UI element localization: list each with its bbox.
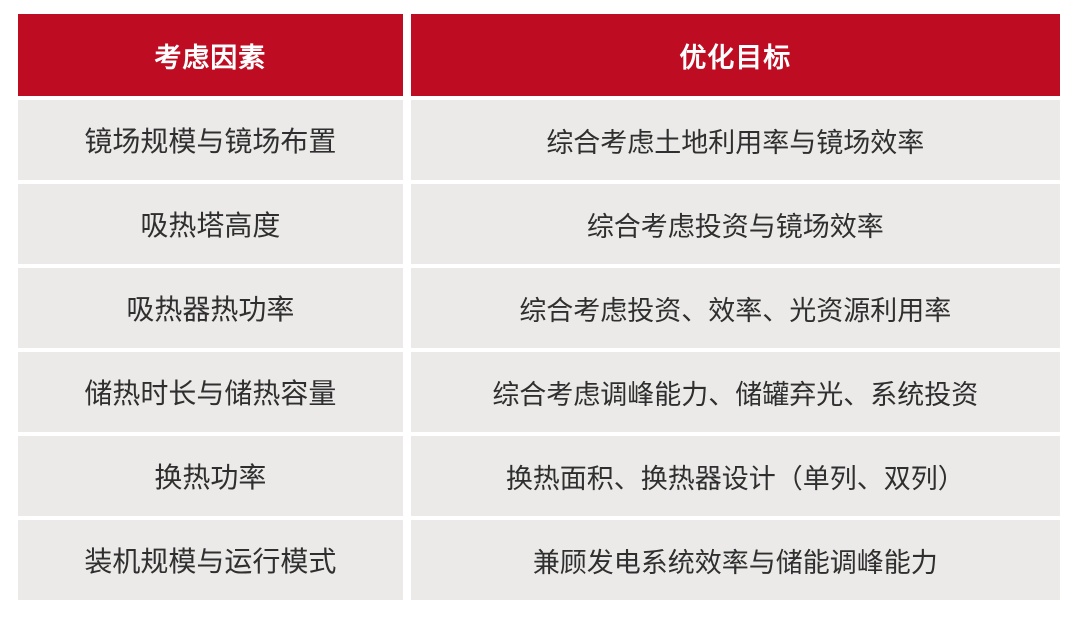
table-row: 吸热器热功率 综合考虑投资、效率、光资源利用率 (18, 268, 1060, 348)
cell-target: 综合考虑投资与镜场效率 (411, 184, 1060, 264)
cell-factor: 镜场规模与镜场布置 (18, 100, 403, 180)
cell-target: 换热面积、换热器设计（单列、双列） (411, 436, 1060, 516)
cell-target: 兼顾发电系统效率与储能调峰能力 (411, 520, 1060, 600)
cell-target: 综合考虑调峰能力、储罐弃光、系统投资 (411, 352, 1060, 432)
table-header-row: 考虑因素 优化目标 (18, 14, 1060, 96)
table-row: 吸热塔高度 综合考虑投资与镜场效率 (18, 184, 1060, 264)
table-container: 考虑因素 优化目标 镜场规模与镜场布置 综合考虑土地利用率与镜场效率 吸热塔高度… (0, 0, 1080, 617)
column-header-target: 优化目标 (411, 14, 1060, 96)
table-body: 镜场规模与镜场布置 综合考虑土地利用率与镜场效率 吸热塔高度 综合考虑投资与镜场… (18, 100, 1060, 600)
cell-factor: 换热功率 (18, 436, 403, 516)
cell-factor: 装机规模与运行模式 (18, 520, 403, 600)
table-header: 考虑因素 优化目标 (18, 14, 1060, 96)
cell-factor: 吸热器热功率 (18, 268, 403, 348)
cell-target: 综合考虑投资、效率、光资源利用率 (411, 268, 1060, 348)
table-row: 装机规模与运行模式 兼顾发电系统效率与储能调峰能力 (18, 520, 1060, 600)
column-header-factor: 考虑因素 (18, 14, 403, 96)
cell-factor: 吸热塔高度 (18, 184, 403, 264)
cell-target: 综合考虑土地利用率与镜场效率 (411, 100, 1060, 180)
optimization-factors-table: 考虑因素 优化目标 镜场规模与镜场布置 综合考虑土地利用率与镜场效率 吸热塔高度… (10, 10, 1068, 604)
cell-factor: 储热时长与储热容量 (18, 352, 403, 432)
table-row: 储热时长与储热容量 综合考虑调峰能力、储罐弃光、系统投资 (18, 352, 1060, 432)
table-row: 换热功率 换热面积、换热器设计（单列、双列） (18, 436, 1060, 516)
table-row: 镜场规模与镜场布置 综合考虑土地利用率与镜场效率 (18, 100, 1060, 180)
